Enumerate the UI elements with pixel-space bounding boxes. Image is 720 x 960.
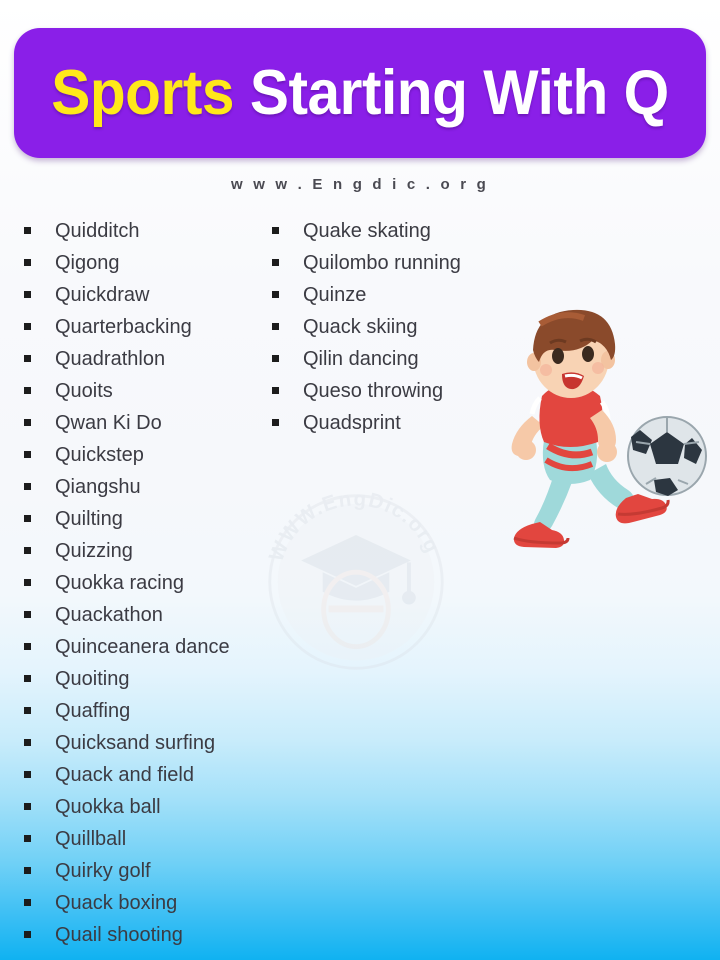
list-item[interactable]: Queso throwing	[272, 376, 502, 408]
list-item[interactable]: Quack skiing	[272, 312, 502, 344]
bullet-square-icon	[24, 483, 31, 490]
illustration-boy-playing-soccer	[470, 298, 718, 560]
bullet-square-icon	[272, 419, 279, 426]
list-item[interactable]: Quake skating	[272, 216, 502, 248]
list-item[interactable]: Qigong	[24, 248, 274, 280]
page-title-accent: Sports	[51, 58, 234, 128]
bullet-square-icon	[24, 803, 31, 810]
header-banner: Sports Starting With Q	[14, 28, 706, 158]
list-item[interactable]: Qilin dancing	[272, 344, 502, 376]
list-item[interactable]: Quidditch	[24, 216, 274, 248]
list-item[interactable]: Quoits	[24, 376, 274, 408]
bullet-square-icon	[272, 227, 279, 234]
list-item[interactable]: Quinceanera dance	[24, 632, 274, 664]
bullet-square-icon	[24, 675, 31, 682]
page-title: Sports Starting With Q	[51, 62, 668, 125]
svg-text:WWW.EngDic.org: WWW.EngDic.org	[265, 487, 445, 564]
bullet-square-icon	[24, 867, 31, 874]
page-title-rest: Starting With Q	[234, 58, 669, 128]
watermark-logo: WWW.EngDic.org	[258, 484, 454, 680]
list-item[interactable]: Quicksand surfing	[24, 728, 274, 760]
list-item[interactable]: Quokka racing	[24, 568, 274, 600]
bullet-square-icon	[272, 259, 279, 266]
sports-list-left-column: Quidditch Qigong Quickdraw Quarterbackin…	[24, 216, 274, 952]
bullet-square-icon	[24, 899, 31, 906]
bullet-square-icon	[272, 291, 279, 298]
list-item[interactable]: Quillball	[24, 824, 274, 856]
list-item[interactable]: Quokka ball	[24, 792, 274, 824]
list-item[interactable]: Quilombo running	[272, 248, 502, 280]
sports-list-right-column: Quake skating Quilombo running Quinze Qu…	[272, 216, 502, 440]
list-item[interactable]: Quarterbacking	[24, 312, 274, 344]
bullet-square-icon	[24, 291, 31, 298]
bullet-square-icon	[272, 355, 279, 362]
list-item[interactable]: Qwan Ki Do	[24, 408, 274, 440]
bullet-square-icon	[24, 611, 31, 618]
bullet-square-icon	[24, 419, 31, 426]
list-item[interactable]: Quirky golf	[24, 856, 274, 888]
header-banner-wrap: Sports Starting With Q	[14, 28, 706, 158]
bullet-square-icon	[24, 547, 31, 554]
list-item[interactable]: Quinze	[272, 280, 502, 312]
list-item[interactable]: Quickdraw	[24, 280, 274, 312]
bullet-square-icon	[24, 579, 31, 586]
bullet-square-icon	[272, 323, 279, 330]
list-item[interactable]: Quilting	[24, 504, 274, 536]
bullet-square-icon	[24, 643, 31, 650]
bullet-square-icon	[24, 515, 31, 522]
bullet-square-icon	[24, 707, 31, 714]
site-url: w w w . E n g d i c . o r g	[0, 176, 720, 193]
list-item[interactable]: Quickstep	[24, 440, 274, 472]
bullet-square-icon	[24, 931, 31, 938]
list-item[interactable]: Quack boxing	[24, 888, 274, 920]
bullet-square-icon	[24, 387, 31, 394]
list-item[interactable]: Quadrathlon	[24, 344, 274, 376]
bullet-square-icon	[24, 227, 31, 234]
list-item[interactable]: Quack and field	[24, 760, 274, 792]
bullet-square-icon	[24, 771, 31, 778]
bullet-square-icon	[24, 739, 31, 746]
bullet-square-icon	[24, 355, 31, 362]
list-item[interactable]: Quoiting	[24, 664, 274, 696]
list-item[interactable]: Quaffing	[24, 696, 274, 728]
soccer-ball	[628, 417, 706, 496]
list-item[interactable]: Quadsprint	[272, 408, 502, 440]
bullet-square-icon	[272, 387, 279, 394]
bullet-square-icon	[24, 323, 31, 330]
bullet-square-icon	[24, 451, 31, 458]
list-item[interactable]: Quizzing	[24, 536, 274, 568]
bullet-square-icon	[24, 835, 31, 842]
boy-figure	[512, 310, 669, 548]
list-item[interactable]: Quail shooting	[24, 920, 274, 952]
bullet-square-icon	[24, 259, 31, 266]
list-item[interactable]: Quackathon	[24, 600, 274, 632]
list-item[interactable]: Qiangshu	[24, 472, 274, 504]
